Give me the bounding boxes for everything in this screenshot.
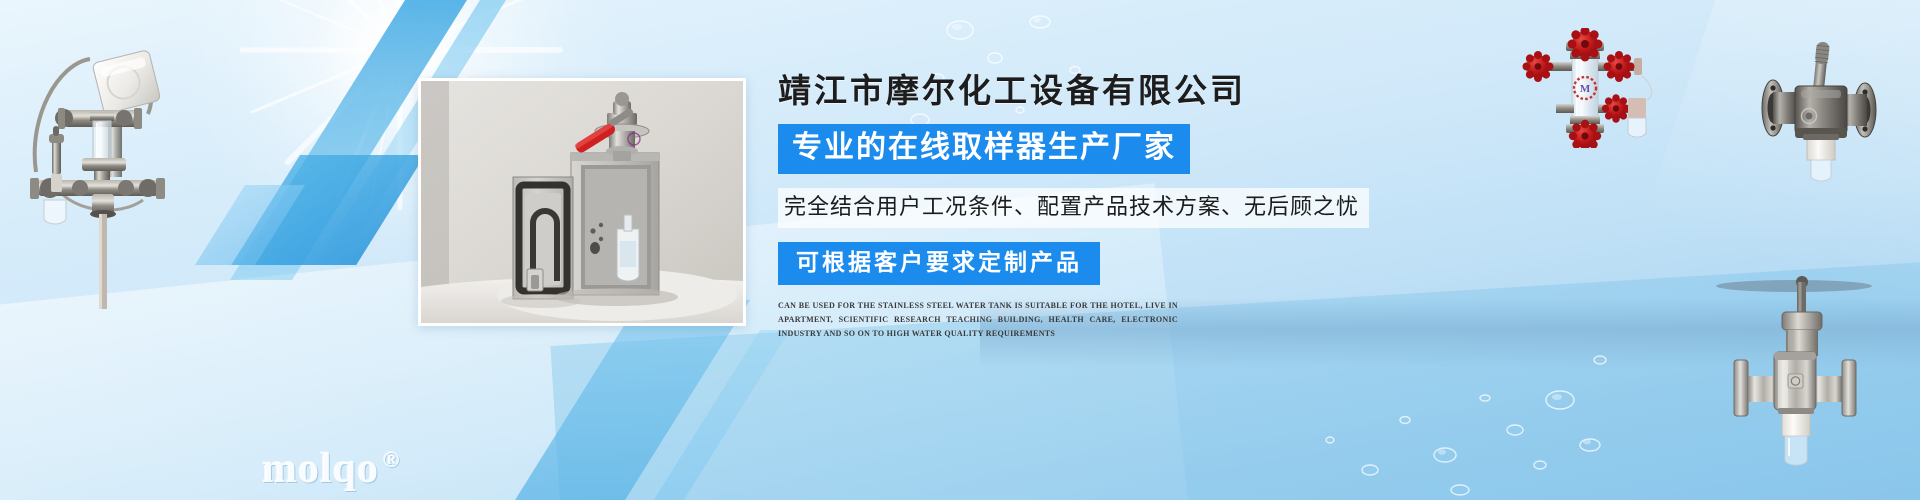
brand-watermark: molqo® xyxy=(262,448,400,490)
center-product-photo xyxy=(418,78,746,326)
promo-banner: 靖江市摩尔化工设备有限公司 专业的在线取样器生产厂家 完全结合用户工况条件、配置… xyxy=(0,0,1920,500)
headline-badge: 专业的在线取样器生产厂家 xyxy=(778,124,1190,174)
registered-trademark-icon: ® xyxy=(383,447,400,472)
brand-watermark-text: molqo xyxy=(262,446,379,492)
company-name: 靖江市摩尔化工设备有限公司 xyxy=(778,74,1418,110)
left-product-sampling-valve-assembly xyxy=(8,22,198,322)
subline-text: 完全结合用户工况条件、配置产品技术方案、无后顾之忧 xyxy=(778,188,1369,228)
right-product-flanged-sampling-valve xyxy=(1712,268,1877,483)
custom-product-badge: 可根据客户要求定制产品 xyxy=(778,242,1100,285)
right-product-cross-handwheel-sampler: M xyxy=(1508,28,1693,148)
svg-text:M: M xyxy=(1580,83,1591,95)
english-description: CAN BE USED FOR THE STAINLESS STEEL WATE… xyxy=(778,299,1178,341)
center-product-photo-inner xyxy=(421,81,743,323)
banner-text-block: 靖江市摩尔化工设备有限公司 专业的在线取样器生产厂家 完全结合用户工况条件、配置… xyxy=(778,74,1418,341)
right-product-flanged-lever-valve xyxy=(1745,30,1895,190)
sampling-cabinet-illustration xyxy=(421,81,743,323)
